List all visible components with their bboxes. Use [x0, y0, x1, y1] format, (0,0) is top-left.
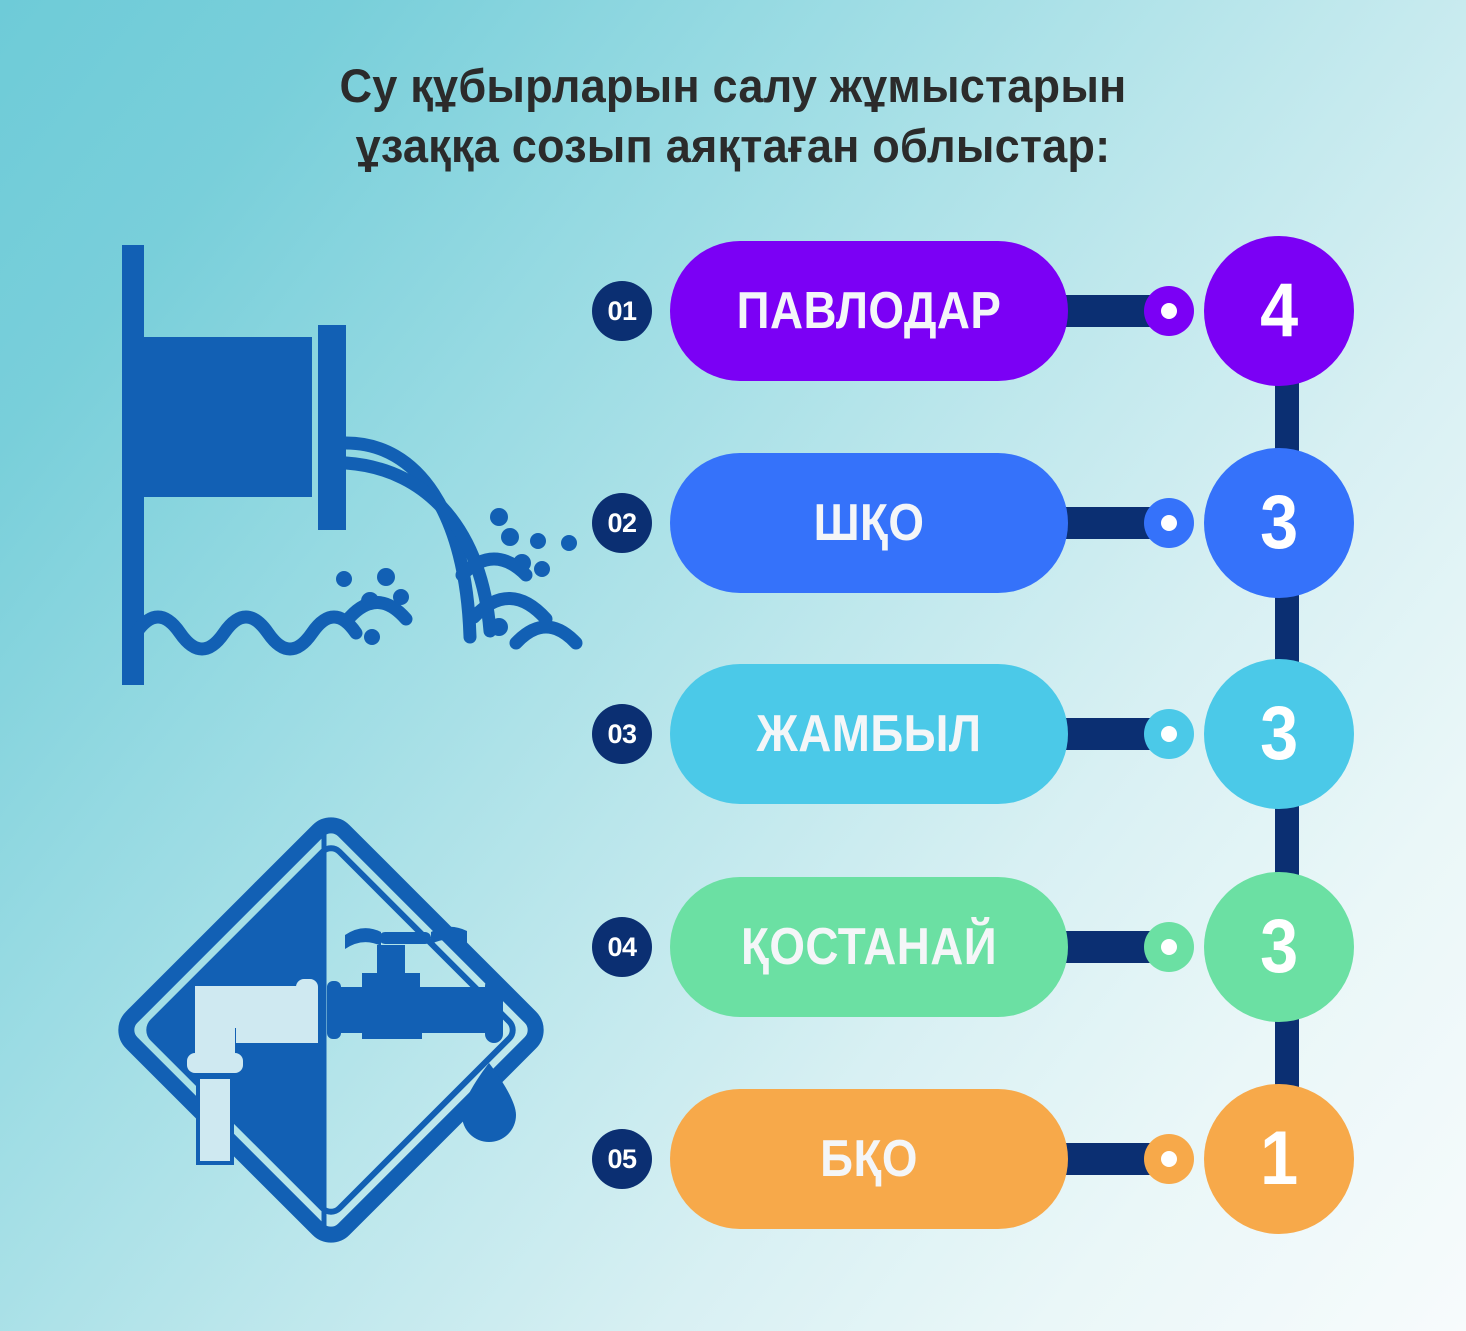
rank-badge: 02	[592, 493, 652, 553]
value-circle: 4	[1204, 236, 1354, 386]
region-list: 01 ПАВЛОДАР 4 02 ШҚО 3 03	[0, 0, 1466, 1331]
list-item[interactable]: 01 ПАВЛОДАР 4	[592, 233, 1362, 389]
list-item[interactable]: 03 ЖАМБЫЛ 3	[592, 656, 1362, 812]
connector-knob	[1144, 498, 1194, 548]
connector-knob	[1144, 709, 1194, 759]
value-number: 1	[1260, 1119, 1298, 1199]
list-item[interactable]: 02 ШҚО 3	[592, 445, 1362, 601]
connector-knob	[1144, 1134, 1194, 1184]
region-name: ШҚО	[694, 496, 1044, 550]
value-circle: 3	[1204, 448, 1354, 598]
value-circle: 3	[1204, 872, 1354, 1022]
value-number: 3	[1260, 907, 1298, 987]
value-circle: 3	[1204, 659, 1354, 809]
list-item[interactable]: 04 ҚОСТАНАЙ 3	[592, 869, 1362, 1025]
rank-badge: 03	[592, 704, 652, 764]
rank-badge: 05	[592, 1129, 652, 1189]
region-pill[interactable]: ЖАМБЫЛ	[670, 664, 1068, 804]
region-name: ЖАМБЫЛ	[694, 707, 1044, 761]
region-name: ҚОСТАНАЙ	[694, 920, 1044, 974]
rank-badge: 01	[592, 281, 652, 341]
region-pill[interactable]: ШҚО	[670, 453, 1068, 593]
list-item[interactable]: 05 БҚО 1	[592, 1081, 1362, 1237]
infographic-root: Су құбырларын салу жұмыстарын ұзаққа соз…	[0, 0, 1466, 1331]
region-pill[interactable]: ПАВЛОДАР	[670, 241, 1068, 381]
connector-knob	[1144, 922, 1194, 972]
value-number: 4	[1260, 271, 1298, 351]
region-pill[interactable]: ҚОСТАНАЙ	[670, 877, 1068, 1017]
connector-knob	[1144, 286, 1194, 336]
value-circle: 1	[1204, 1084, 1354, 1234]
value-number: 3	[1260, 694, 1298, 774]
value-number: 3	[1260, 483, 1298, 563]
region-name: ПАВЛОДАР	[694, 284, 1044, 338]
region-name: БҚО	[694, 1132, 1044, 1186]
rank-badge: 04	[592, 917, 652, 977]
region-pill[interactable]: БҚО	[670, 1089, 1068, 1229]
